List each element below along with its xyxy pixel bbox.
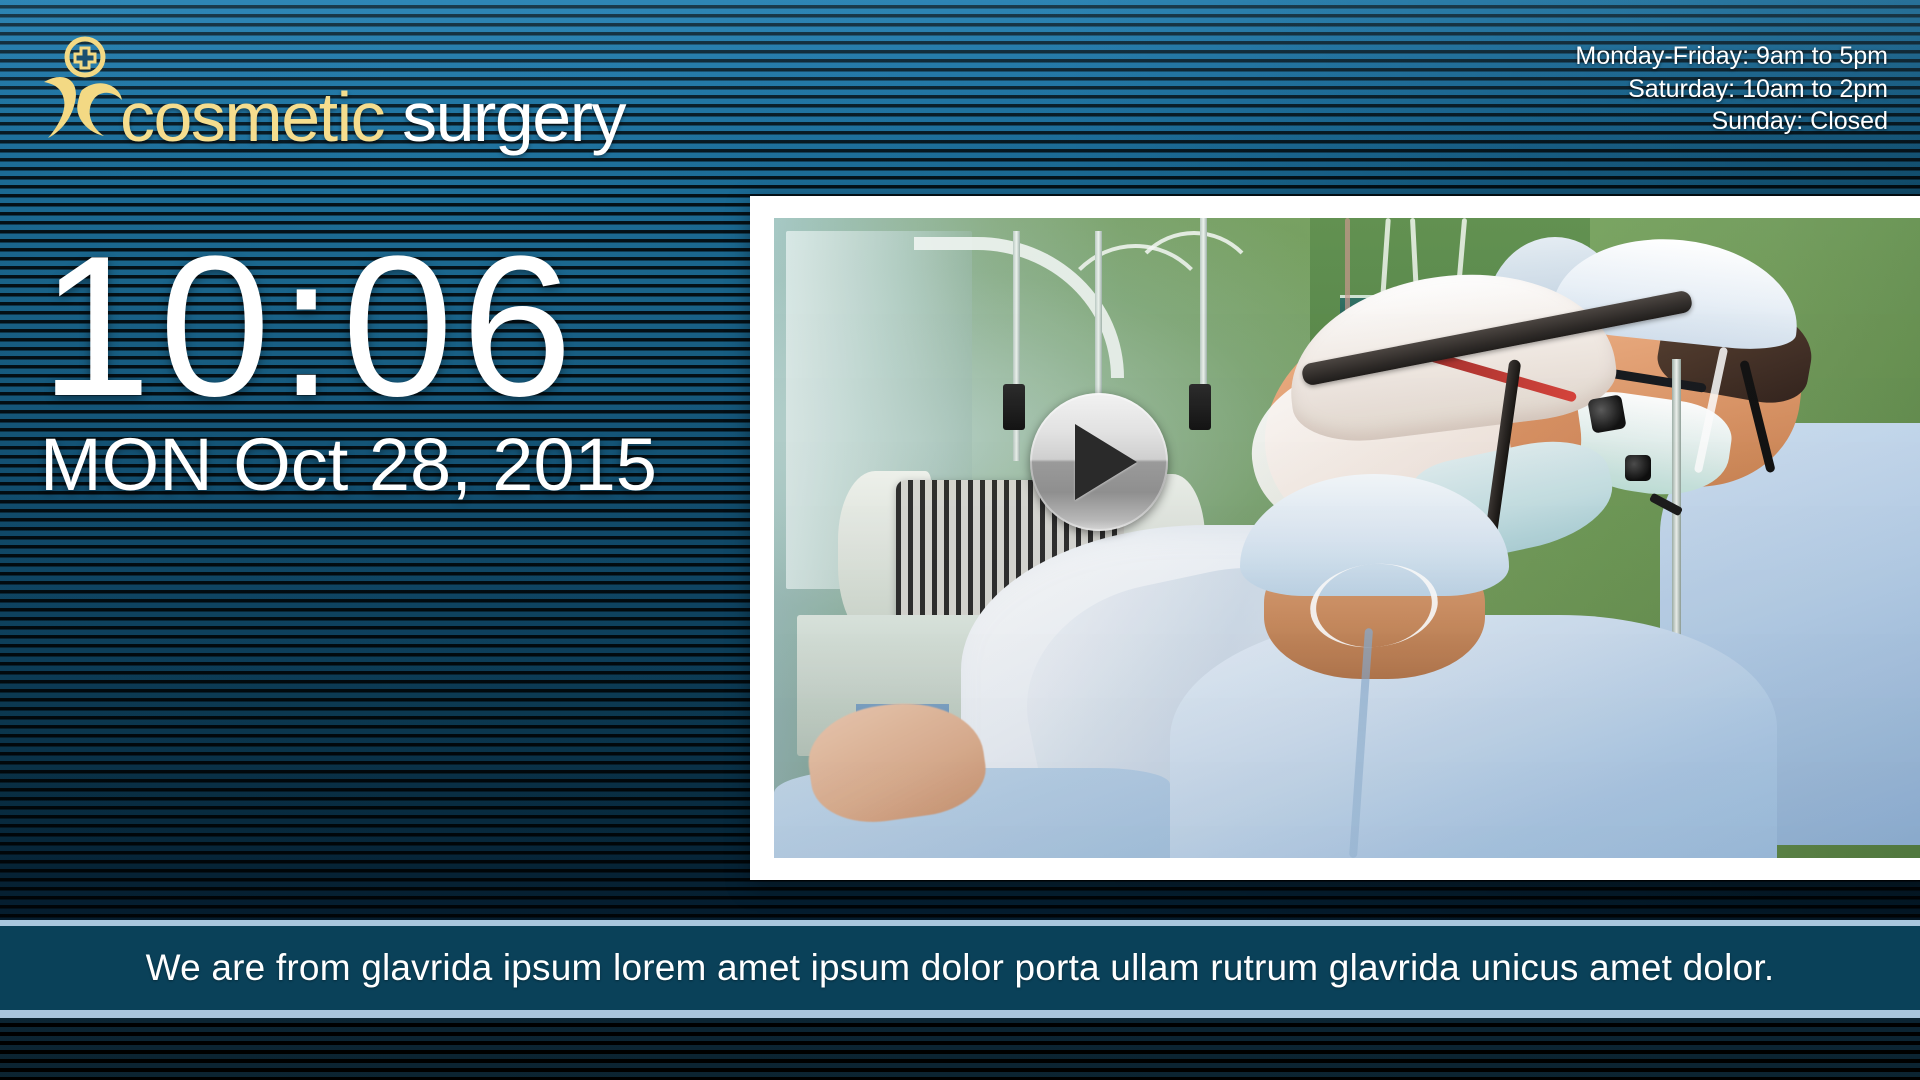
hours-line-weekday: Monday-Friday: 9am to 5pm xyxy=(1575,40,1888,73)
business-hours: Monday-Friday: 9am to 5pm Saturday: 10am… xyxy=(1575,40,1888,138)
play-triangle-icon xyxy=(1075,424,1137,500)
clock-widget: 10:06 MON Oct 28, 2015 xyxy=(40,232,657,502)
signage-screen: cosmetic surgery Monday-Friday: 9am to 5… xyxy=(0,0,1920,1080)
brand-logo[interactable]: cosmetic surgery xyxy=(38,36,625,140)
video-image xyxy=(774,218,1920,858)
hours-line-saturday: Saturday: 10am to 2pm xyxy=(1575,73,1888,106)
clock-date: MON Oct 28, 2015 xyxy=(40,428,657,502)
clock-time: 10:06 xyxy=(40,232,657,422)
ticker-message: We are from glavrida ipsum lorem amet ip… xyxy=(146,947,1775,989)
ticker-bar: We are from glavrida ipsum lorem amet ip… xyxy=(0,920,1920,1018)
brand-name-part2: surgery xyxy=(402,78,625,156)
video-panel[interactable] xyxy=(750,196,1920,880)
brand-wordmark: cosmetic surgery xyxy=(120,84,625,151)
bottom-band xyxy=(0,1018,1920,1080)
play-button[interactable] xyxy=(1030,393,1168,531)
brand-name-part1: cosmetic xyxy=(120,78,384,156)
medical-person-cross-icon xyxy=(38,36,124,140)
hours-line-sunday: Sunday: Closed xyxy=(1575,105,1888,138)
